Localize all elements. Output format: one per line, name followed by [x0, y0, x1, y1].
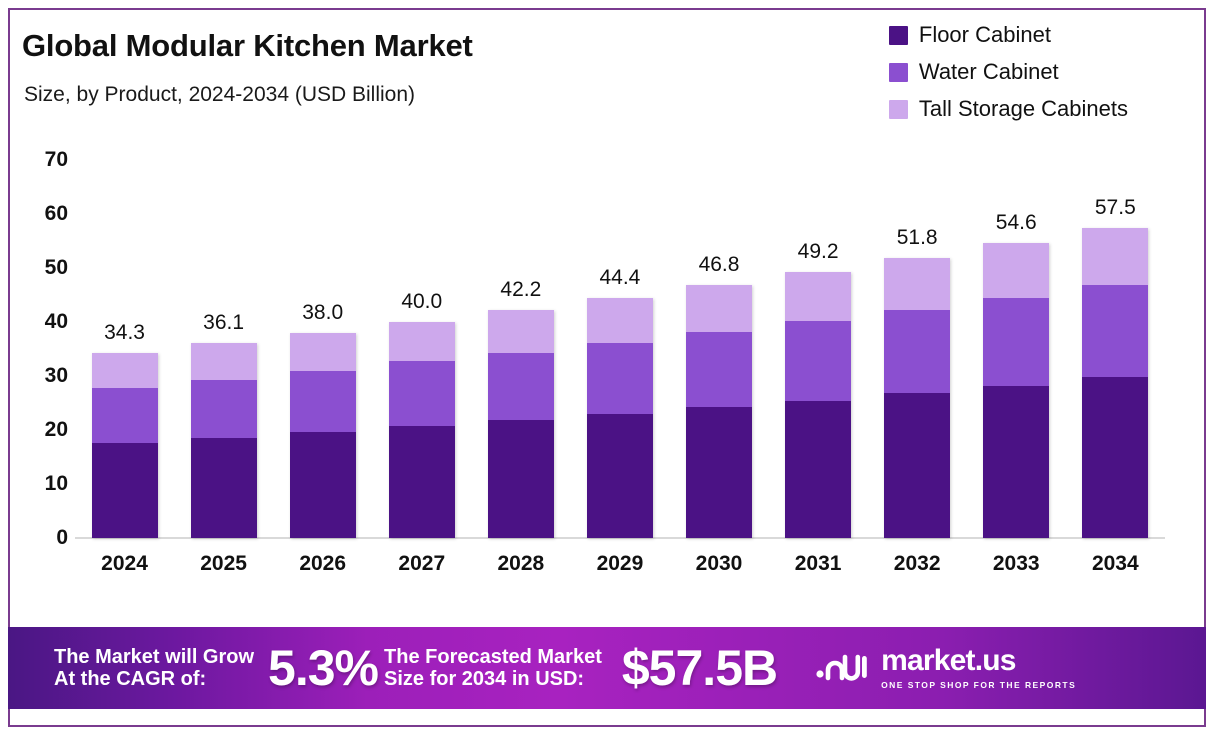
logo-name: market.us [881, 646, 1016, 676]
cagr-label-line1: The Market will Grow [54, 646, 254, 668]
legend-swatch-icon [889, 63, 908, 82]
legend-item-water-cabinet[interactable]: Water Cabinet [889, 59, 1128, 85]
legend-label: Tall Storage Cabinets [919, 96, 1128, 122]
legend-item-floor-cabinet[interactable]: Floor Cabinet [889, 22, 1128, 48]
forecast-label-line1: The Forecasted Market [384, 646, 602, 668]
legend-swatch-icon [889, 26, 908, 45]
forecast-value: $57.5B [622, 643, 777, 693]
legend-label: Water Cabinet [919, 59, 1059, 85]
page-title: Global Modular Kitchen Market [22, 28, 473, 64]
forecast-label: The Forecasted Market Size for 2034 in U… [384, 646, 602, 691]
legend-swatch-icon [889, 100, 908, 119]
legend-item-tall-storage-cabinets[interactable]: Tall Storage Cabinets [889, 96, 1128, 122]
cagr-value: 5.3% [268, 643, 378, 693]
chart-legend: Floor Cabinet Water Cabinet Tall Storage… [889, 22, 1128, 122]
logo-tagline: ONE STOP SHOP FOR THE REPORTS [881, 680, 1076, 690]
legend-label: Floor Cabinet [919, 22, 1051, 48]
market-us-logo[interactable]: market.us ONE STOP SHOP FOR THE REPORTS [815, 646, 1076, 690]
cagr-label: The Market will Grow At the CAGR of: [54, 646, 254, 691]
page-subtitle: Size, by Product, 2024-2034 (USD Billion… [24, 83, 415, 107]
bottom-banner: The Market will Grow At the CAGR of: 5.3… [8, 627, 1206, 709]
forecast-label-line2: Size for 2034 in USD: [384, 668, 602, 690]
market-us-logo-icon [815, 649, 871, 688]
infographic-root: Global Modular Kitchen Market Size, by P… [0, 0, 1216, 735]
market-us-logo-text: market.us ONE STOP SHOP FOR THE REPORTS [881, 646, 1076, 690]
cagr-label-line2: At the CAGR of: [54, 668, 254, 690]
